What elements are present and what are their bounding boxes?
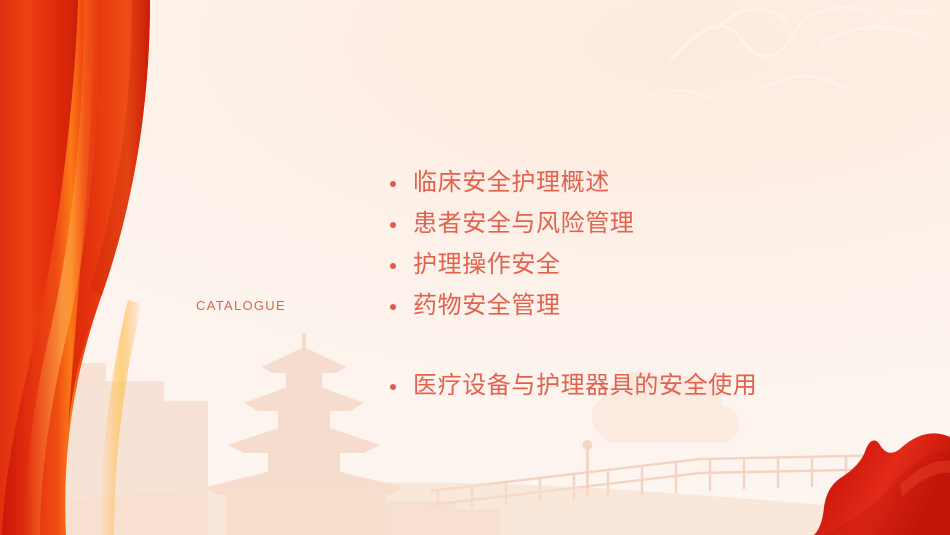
list-item-label: 临床安全护理概述	[413, 166, 610, 200]
catalogue-label: CATALOGUE	[196, 298, 286, 313]
list-item-label: 药物安全管理	[413, 289, 561, 323]
list-item[interactable]: 医疗设备与护理器具的安全使用	[386, 369, 906, 410]
background-swirls	[520, 0, 950, 150]
list-item[interactable]: 患者安全与风险管理	[386, 207, 906, 248]
bullet-dot-icon	[390, 263, 396, 269]
decorative-red-ribbon	[0, 0, 260, 535]
bullet-dot-icon	[390, 384, 396, 390]
table-of-contents: 临床安全护理概述 患者安全与风险管理 护理操作安全 药物安全管理 医疗设备与护理…	[386, 166, 906, 410]
presentation-slide: CATALOGUE 临床安全护理概述 患者安全与风险管理 护理操作安全 药物安全…	[0, 0, 950, 535]
list-item-label: 患者安全与风险管理	[413, 207, 634, 241]
bullet-dot-icon	[390, 181, 396, 187]
decorative-red-flag	[790, 415, 950, 535]
list-item[interactable]: 临床安全护理概述	[386, 166, 906, 207]
list-item[interactable]: 药物安全管理	[386, 289, 906, 330]
list-item[interactable]: 护理操作安全	[386, 248, 906, 289]
list-item-label: 医疗设备与护理器具的安全使用	[413, 369, 757, 403]
bullet-dot-icon	[390, 222, 396, 228]
list-item-label: 护理操作安全	[413, 248, 561, 282]
bullet-dot-icon	[390, 304, 396, 310]
